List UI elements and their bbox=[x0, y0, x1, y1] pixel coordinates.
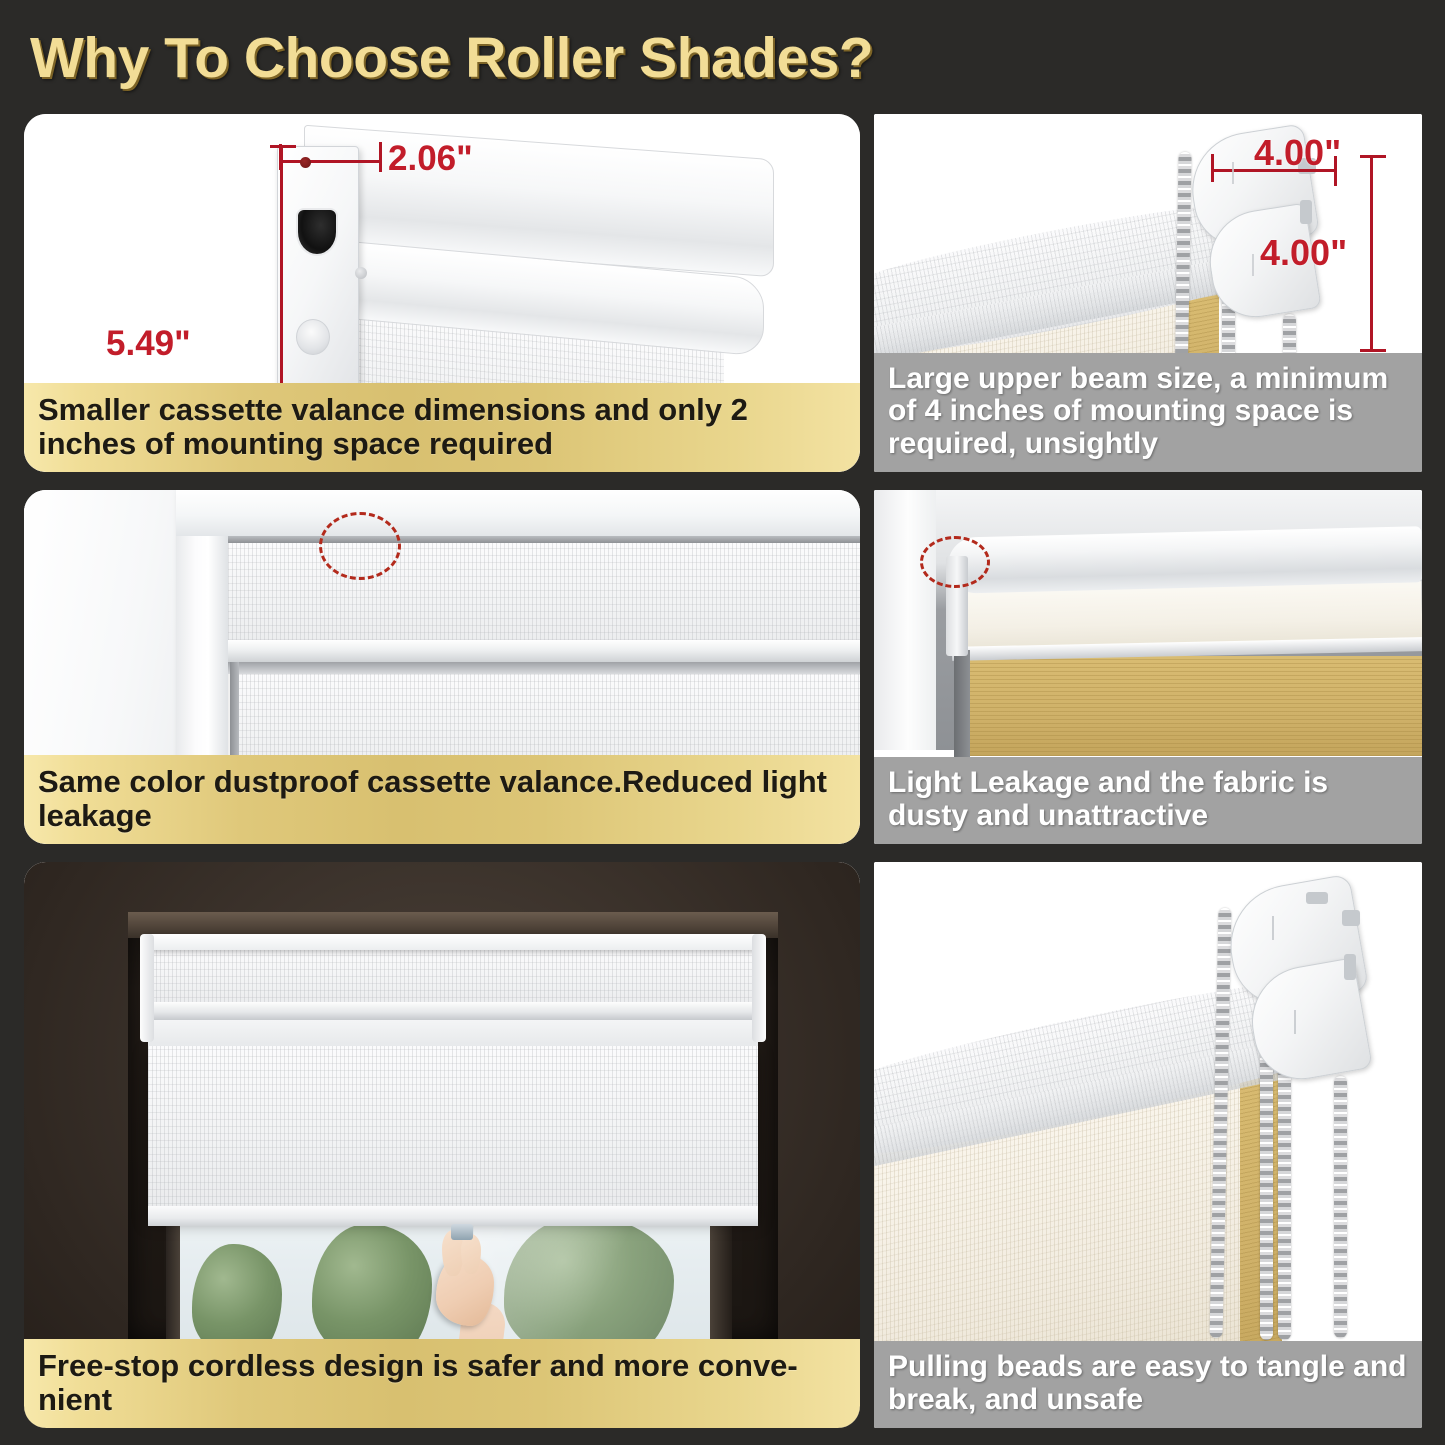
bracket-slot-mid bbox=[1300, 200, 1312, 224]
cassette-dimensions-photo: 2.06" 5.49" Smaller cassette valance dim… bbox=[24, 114, 860, 472]
cassette-side-bracket bbox=[277, 146, 359, 396]
comparison-grid: 2.06" 5.49" Smaller cassette valance dim… bbox=[0, 0, 1445, 1445]
valance-top-cap bbox=[144, 934, 762, 950]
panel-light-leakage: Large gap Light Leakage and the fabric i… bbox=[874, 490, 1422, 844]
bracket-logo-top-icon bbox=[1232, 162, 1252, 184]
upper-beam-photo: 4.00" 4.00" Large upper beam size, a min… bbox=[874, 114, 1422, 472]
shade-bottom-rail bbox=[148, 1206, 758, 1226]
height-dimension-tick-top bbox=[270, 145, 296, 148]
beam-height-tick-top bbox=[1360, 155, 1386, 158]
valance-under-shadow bbox=[228, 662, 860, 674]
valance-bottom-edge bbox=[228, 640, 860, 662]
backdrop-left-column bbox=[874, 490, 936, 750]
valance-front-lip bbox=[144, 1002, 762, 1020]
tree-left bbox=[192, 1244, 282, 1342]
beam-width-label: 4.00" bbox=[1254, 132, 1341, 174]
bracket-logo-top-icon bbox=[1272, 916, 1294, 940]
bracket-screw bbox=[355, 267, 367, 279]
bracket-logo-bottom-icon bbox=[1294, 1010, 1316, 1034]
bracket-slot-corner bbox=[1306, 892, 1328, 904]
panel-cassette-dimensions: 2.06" 5.49" Smaller cassette valance dim… bbox=[24, 114, 860, 472]
window-right-jamb bbox=[710, 1214, 732, 1342]
beam-width-tick-left bbox=[1211, 154, 1214, 182]
width-dimension-label: 2.06" bbox=[388, 139, 473, 179]
bracket-slot-mid bbox=[1344, 954, 1356, 980]
detail-highlight-ellipse bbox=[920, 536, 990, 588]
bead-chain-right bbox=[1334, 1076, 1347, 1338]
width-dimension-line bbox=[280, 160, 380, 163]
hand-finger-thumb bbox=[461, 1234, 481, 1274]
panel-caption: Smaller cassette valance dimensions and … bbox=[24, 383, 860, 472]
panel-upper-beam-size: 4.00" 4.00" Large upper beam size, a min… bbox=[874, 114, 1422, 472]
shade-fabric-panel bbox=[148, 1046, 758, 1218]
cordless-design-photo: Free-stop cordless design is safer and m… bbox=[24, 862, 860, 1428]
bracket-screw-boss bbox=[296, 319, 330, 355]
panel-caption: Same color dustproof cassette valance.Re… bbox=[24, 755, 860, 844]
width-dimension-tick-right bbox=[379, 142, 382, 172]
window-mullion bbox=[166, 1214, 180, 1342]
panel-caption: Light Leakage and the fabric is dusty an… bbox=[874, 757, 1422, 844]
detail-highlight-ellipse bbox=[319, 512, 401, 580]
shade-pull-tab bbox=[451, 1224, 473, 1240]
beam-height-tick-bottom bbox=[1360, 349, 1386, 352]
panel-dustproof-valance: smaller gap Same color dustproof cassett… bbox=[24, 490, 860, 844]
panel-pulling-beads: Pulling beads are easy to tangle and bre… bbox=[874, 862, 1422, 1428]
window-frame-top-casing bbox=[176, 490, 860, 536]
panel-caption: Free-stop cordless design is safer and m… bbox=[24, 1339, 860, 1428]
window-glass-sheen bbox=[474, 1214, 714, 1342]
bracket-slot-top bbox=[1342, 910, 1360, 926]
light-gap-strip bbox=[954, 650, 970, 760]
panel-caption: Pulling beads are easy to tangle and bre… bbox=[874, 1341, 1422, 1428]
dusty-fabric bbox=[962, 656, 1422, 756]
valance-lower-skirt bbox=[148, 1020, 758, 1046]
bracket-top-screw bbox=[300, 157, 311, 168]
light-leakage-photo: Large gap Light Leakage and the fabric i… bbox=[874, 490, 1422, 844]
beam-height-dimension-line bbox=[1370, 156, 1373, 352]
exposed-roller-tube bbox=[947, 526, 1422, 594]
height-dimension-label: 5.49" bbox=[106, 324, 191, 364]
dustproof-valance-photo: smaller gap Same color dustproof cassett… bbox=[24, 490, 860, 844]
valance-right-endcap bbox=[752, 934, 766, 1042]
panel-cordless-design: Free-stop cordless design is safer and m… bbox=[24, 862, 860, 1428]
valance-left-endcap bbox=[140, 934, 154, 1042]
tree-center bbox=[312, 1224, 432, 1342]
bracket-clutch-opening bbox=[296, 208, 338, 256]
pulling-beads-photo: Pulling beads are easy to tangle and bre… bbox=[874, 862, 1422, 1428]
panel-caption: Large upper beam size, a minimum of 4 in… bbox=[874, 353, 1422, 472]
beam-height-label: 4.00" bbox=[1260, 232, 1347, 274]
